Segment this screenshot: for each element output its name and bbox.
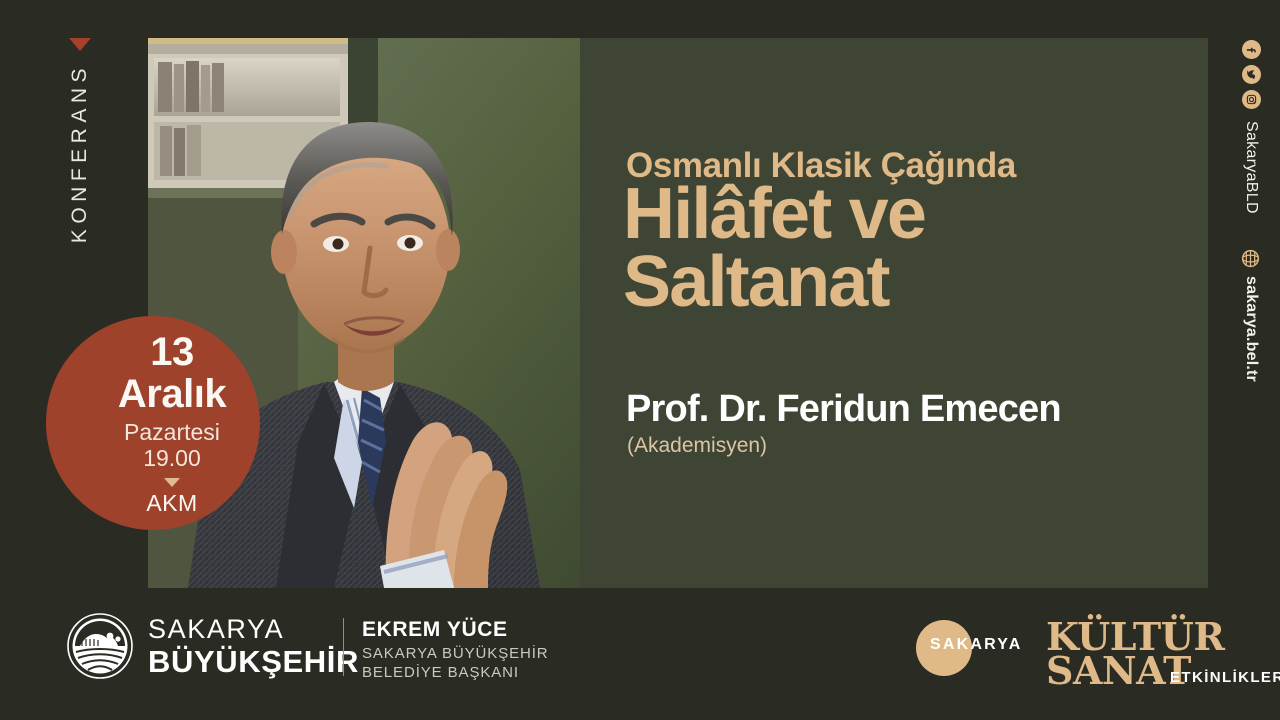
date-month: Aralık	[118, 374, 226, 414]
kultur-sanat-sakarya: SAKARYA	[930, 636, 1022, 654]
municipality-wordmark: SAKARYA BÜYÜKŞEHİR	[148, 616, 359, 677]
mayor-block: EKREM YÜCE SAKARYA BÜYÜKŞEHİR BELEDİYE B…	[362, 618, 549, 682]
mayor-title-line-2: BELEDİYE BAŞKANI	[362, 664, 549, 682]
date-venue: AKM	[146, 492, 197, 515]
speaker-name: Prof. Dr. Feridun Emecen	[626, 388, 1061, 431]
footer-divider	[343, 618, 344, 676]
municipality-line-1: SAKARYA	[148, 616, 359, 643]
date-badge-content: 13 Aralık Pazartesi 19.00 AKM	[118, 332, 226, 515]
social-rail: SakaryaBLD	[1230, 40, 1272, 214]
social-handle[interactable]: SakaryaBLD	[1242, 121, 1260, 214]
date-weekday: Pazartesi	[124, 421, 220, 444]
website-url[interactable]: sakarya.bel.tr	[1242, 276, 1260, 382]
triangle-down-icon	[164, 478, 180, 487]
twitter-icon[interactable]	[1242, 65, 1261, 84]
municipality-logo: SAKARYA BÜYÜKŞEHİR	[66, 612, 359, 680]
event-title: Hilâfet ve Saltanat	[623, 181, 925, 316]
date-badge: 13 Aralık Pazartesi 19.00 AKM	[46, 316, 260, 530]
category-rail: KONFERANS	[60, 38, 100, 278]
event-poster: KONFERANS	[0, 0, 1280, 720]
event-title-line-1: Hilâfet ve	[623, 181, 925, 249]
kultur-sanat-logo: SAKARYA KÜLTÜR SANAT ETKİNLİKLERİ	[908, 614, 1218, 698]
instagram-icon[interactable]	[1242, 90, 1261, 109]
sakarya-emblem-icon	[66, 612, 134, 680]
website-rail: sakarya.bel.tr	[1230, 248, 1272, 382]
date-day: 13	[150, 332, 194, 372]
mayor-name: EKREM YÜCE	[362, 618, 549, 643]
mayor-title-line-1: SAKARYA BÜYÜKŞEHİR	[362, 645, 549, 663]
kultur-sanat-etkinlikleri: ETKİNLİKLERİ	[1170, 669, 1280, 686]
event-title-line-2: Saltanat	[623, 249, 925, 317]
triangle-down-icon	[69, 38, 91, 51]
globe-icon	[1241, 248, 1261, 268]
date-time: 19.00	[143, 447, 201, 470]
facebook-icon[interactable]	[1242, 40, 1261, 59]
content-panel: Osmanlı Klasik Çağında Hilâfet ve Saltan…	[148, 38, 1208, 588]
footer-bar: SAKARYA BÜYÜKŞEHİR EKREM YÜCE SAKARYA BÜ…	[0, 600, 1280, 720]
category-label: KONFERANS	[68, 63, 92, 243]
speaker-role: (Akademisyen)	[627, 434, 767, 458]
event-text-block: Osmanlı Klasik Çağında Hilâfet ve Saltan…	[626, 38, 1208, 588]
municipality-line-2: BÜYÜKŞEHİR	[148, 646, 359, 677]
